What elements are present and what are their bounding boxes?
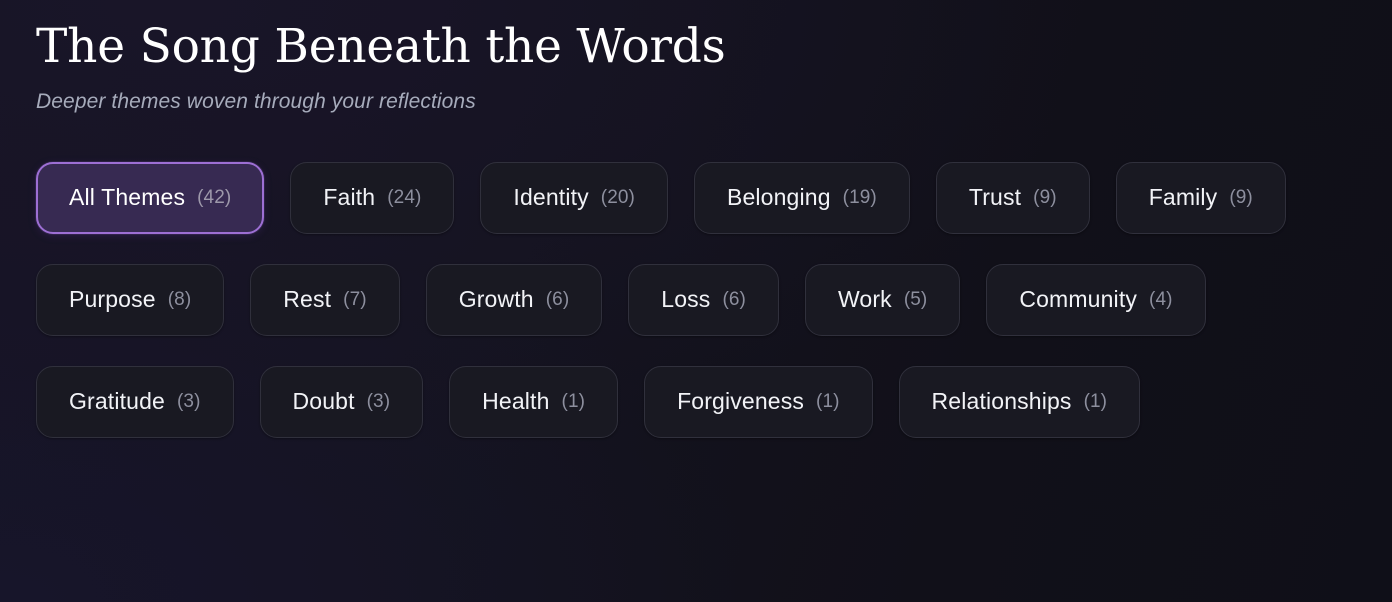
theme-chip-label: Forgiveness: [677, 388, 804, 415]
theme-chip-label: Loss: [661, 286, 710, 313]
theme-chip-purpose[interactable]: Purpose(8): [36, 264, 224, 336]
theme-chip-label: Trust: [969, 184, 1021, 211]
theme-chip-label: Purpose: [69, 286, 156, 313]
theme-chip-count: (20): [601, 187, 635, 209]
theme-chip-belonging[interactable]: Belonging(19): [694, 162, 910, 234]
theme-chip-work[interactable]: Work(5): [805, 264, 960, 336]
theme-chip-count: (1): [562, 391, 586, 413]
theme-chip-label: Family: [1149, 184, 1218, 211]
theme-chip-forgiveness[interactable]: Forgiveness(1): [644, 366, 872, 438]
theme-chip-label: All Themes: [69, 184, 185, 211]
theme-chip-count: (1): [1084, 391, 1108, 413]
theme-chip-count: (5): [904, 289, 928, 311]
theme-chip-count: (1): [816, 391, 840, 413]
theme-chip-label: Community: [1019, 286, 1137, 313]
theme-chip-label: Identity: [513, 184, 588, 211]
theme-chip-count: (19): [843, 187, 877, 209]
theme-chip-label: Health: [482, 388, 549, 415]
theme-chip-relationships[interactable]: Relationships(1): [899, 366, 1141, 438]
theme-chip-count: (9): [1033, 187, 1057, 209]
theme-chip-health[interactable]: Health(1): [449, 366, 618, 438]
theme-chip-label: Rest: [283, 286, 331, 313]
theme-chip-rest[interactable]: Rest(7): [250, 264, 399, 336]
theme-chip-gratitude[interactable]: Gratitude(3): [36, 366, 234, 438]
theme-chip-label: Growth: [459, 286, 534, 313]
theme-chip-trust[interactable]: Trust(9): [936, 162, 1090, 234]
theme-chip-count: (6): [546, 289, 570, 311]
theme-chip-count: (42): [197, 187, 231, 209]
page-title: The Song Beneath the Words: [36, 22, 1356, 73]
theme-filter-list: All Themes(42)Faith(24)Identity(20)Belon…: [36, 162, 1356, 438]
theme-chip-loss[interactable]: Loss(6): [628, 264, 779, 336]
theme-chip-count: (8): [168, 289, 192, 311]
theme-chip-all-themes[interactable]: All Themes(42): [36, 162, 264, 234]
theme-chip-count: (6): [722, 289, 746, 311]
theme-chip-label: Belonging: [727, 184, 831, 211]
theme-chip-doubt[interactable]: Doubt(3): [260, 366, 424, 438]
theme-chip-count: (24): [387, 187, 421, 209]
theme-chip-community[interactable]: Community(4): [986, 264, 1205, 336]
theme-chip-count: (4): [1149, 289, 1173, 311]
theme-chip-label: Faith: [323, 184, 375, 211]
theme-explorer-page: The Song Beneath the Words Deeper themes…: [0, 0, 1392, 602]
page-subtitle: Deeper themes woven through your reflect…: [36, 89, 1356, 114]
theme-chip-count: (3): [177, 391, 201, 413]
theme-chip-growth[interactable]: Growth(6): [426, 264, 603, 336]
theme-chip-count: (7): [343, 289, 367, 311]
theme-chip-faith[interactable]: Faith(24): [290, 162, 454, 234]
theme-chip-count: (3): [367, 391, 391, 413]
theme-chip-family[interactable]: Family(9): [1116, 162, 1286, 234]
theme-chip-label: Work: [838, 286, 892, 313]
theme-chip-label: Gratitude: [69, 388, 165, 415]
theme-chip-label: Doubt: [293, 388, 355, 415]
theme-chip-label: Relationships: [932, 388, 1072, 415]
theme-chip-count: (9): [1229, 187, 1253, 209]
page-header: The Song Beneath the Words Deeper themes…: [36, 0, 1356, 114]
theme-chip-identity[interactable]: Identity(20): [480, 162, 668, 234]
